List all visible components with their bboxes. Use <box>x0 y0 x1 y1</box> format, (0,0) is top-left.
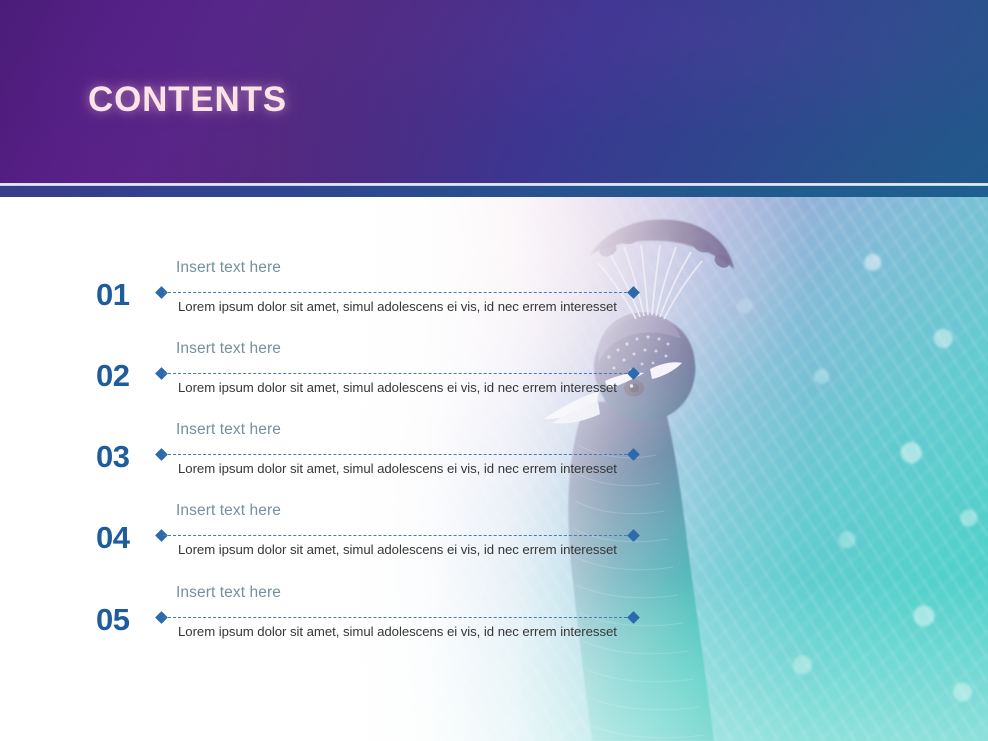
list-item[interactable]: 03 Insert text here Lorem ipsum dolor si… <box>0 421 700 497</box>
item-description: Lorem ipsum dolor sit amet, simul adoles… <box>178 380 617 395</box>
item-title[interactable]: Insert text here <box>176 421 281 439</box>
list-item[interactable]: 05 Insert text here Lorem ipsum dolor si… <box>0 584 700 660</box>
dashed-rule <box>163 292 632 293</box>
dashed-rule <box>163 617 632 618</box>
dashed-rule <box>163 373 632 374</box>
item-connector-line <box>157 531 638 540</box>
item-title[interactable]: Insert text here <box>176 340 281 358</box>
dashed-rule <box>163 454 632 455</box>
dashed-rule <box>163 535 632 536</box>
item-title[interactable]: Insert text here <box>176 584 281 602</box>
item-number: 01 <box>96 279 154 310</box>
contents-list: 01 Insert text here Lorem ipsum dolor si… <box>0 197 988 741</box>
item-connector-line <box>157 288 638 297</box>
item-number: 03 <box>96 441 154 472</box>
item-description: Lorem ipsum dolor sit amet, simul adoles… <box>178 299 617 314</box>
header-accent-band <box>0 186 988 197</box>
list-item[interactable]: 04 Insert text here Lorem ipsum dolor si… <box>0 502 700 578</box>
item-number: 04 <box>96 522 154 553</box>
item-connector-line <box>157 450 638 459</box>
item-description: Lorem ipsum dolor sit amet, simul adoles… <box>178 624 617 639</box>
item-number: 02 <box>96 360 154 391</box>
slide-header-banner: CONTENTS <box>0 0 988 184</box>
diamond-marker-right-icon <box>627 611 640 624</box>
item-description: Lorem ipsum dolor sit amet, simul adoles… <box>178 542 617 557</box>
diamond-marker-right-icon <box>627 367 640 380</box>
item-title[interactable]: Insert text here <box>176 259 281 277</box>
item-connector-line <box>157 613 638 622</box>
list-item[interactable]: 02 Insert text here Lorem ipsum dolor si… <box>0 340 700 416</box>
diamond-marker-right-icon <box>627 286 640 299</box>
item-title[interactable]: Insert text here <box>176 502 281 520</box>
item-description: Lorem ipsum dolor sit amet, simul adoles… <box>178 461 617 476</box>
diamond-marker-right-icon <box>627 448 640 461</box>
list-item[interactable]: 01 Insert text here Lorem ipsum dolor si… <box>0 259 700 335</box>
diamond-marker-right-icon <box>627 529 640 542</box>
page-title: CONTENTS <box>88 80 287 120</box>
item-number: 05 <box>96 604 154 635</box>
presentation-slide: CONTENTS <box>0 0 988 741</box>
item-connector-line <box>157 369 638 378</box>
